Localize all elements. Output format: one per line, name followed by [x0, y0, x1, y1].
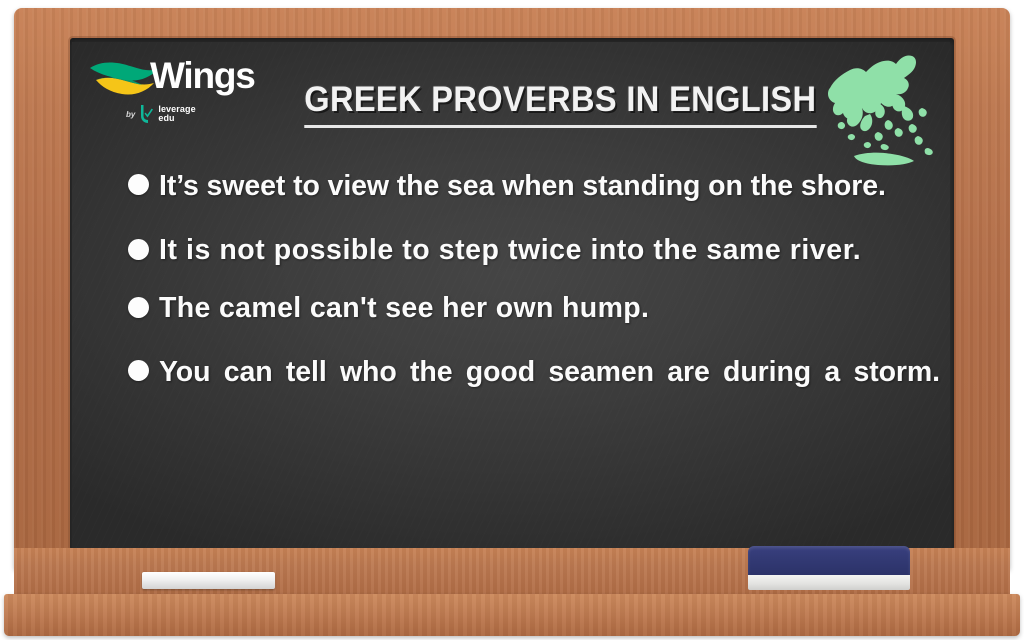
proverb-text: It is not possible to step twice into th…	[159, 226, 940, 274]
greece-map-icon	[818, 48, 950, 178]
page-title: GREEK PROVERBS IN ENGLISH	[250, 80, 870, 128]
leverage-edu-check-icon	[139, 104, 154, 124]
logo-brand-line2: edu	[158, 114, 195, 124]
proverb-list: It’s sweet to view the sea when standing…	[128, 162, 940, 460]
logo-wordmark: Wings	[150, 52, 255, 99]
logo-primary-row: Wings	[88, 52, 258, 102]
bullet-circle-icon	[128, 174, 149, 195]
proverb-item: The camel can't see her own hump.	[128, 284, 940, 332]
proverb-item: It is not possible to step twice into th…	[128, 226, 940, 274]
bullet-circle-icon	[128, 360, 149, 381]
board-eraser[interactable]	[748, 546, 910, 590]
chalk-ledge-front	[4, 594, 1020, 636]
wings-logo[interactable]: Wings by leverage edu	[88, 52, 258, 137]
logo-byline: by leverage edu	[126, 104, 196, 124]
page-title-text: GREEK PROVERBS IN ENGLISH	[304, 80, 816, 128]
eraser-body	[748, 546, 910, 576]
bullet-circle-icon	[128, 297, 149, 318]
proverb-text: The camel can't see her own hump.	[159, 284, 940, 332]
logo-by-label: by	[126, 110, 135, 119]
logo-brand-text: leverage edu	[158, 105, 195, 124]
proverb-text: It’s sweet to view the sea when standing…	[159, 162, 940, 210]
proverb-item: It’s sweet to view the sea when standing…	[128, 162, 940, 210]
chalkboard-poster: Wings by leverage edu GREEK PROVERBS IN …	[0, 0, 1024, 640]
bullet-circle-icon	[128, 239, 149, 260]
proverb-text: You can tell who the good seamen are dur…	[159, 348, 940, 444]
proverb-item: You can tell who the good seamen are dur…	[128, 348, 940, 444]
chalk-stick[interactable]	[142, 572, 275, 589]
eraser-felt	[748, 575, 910, 590]
